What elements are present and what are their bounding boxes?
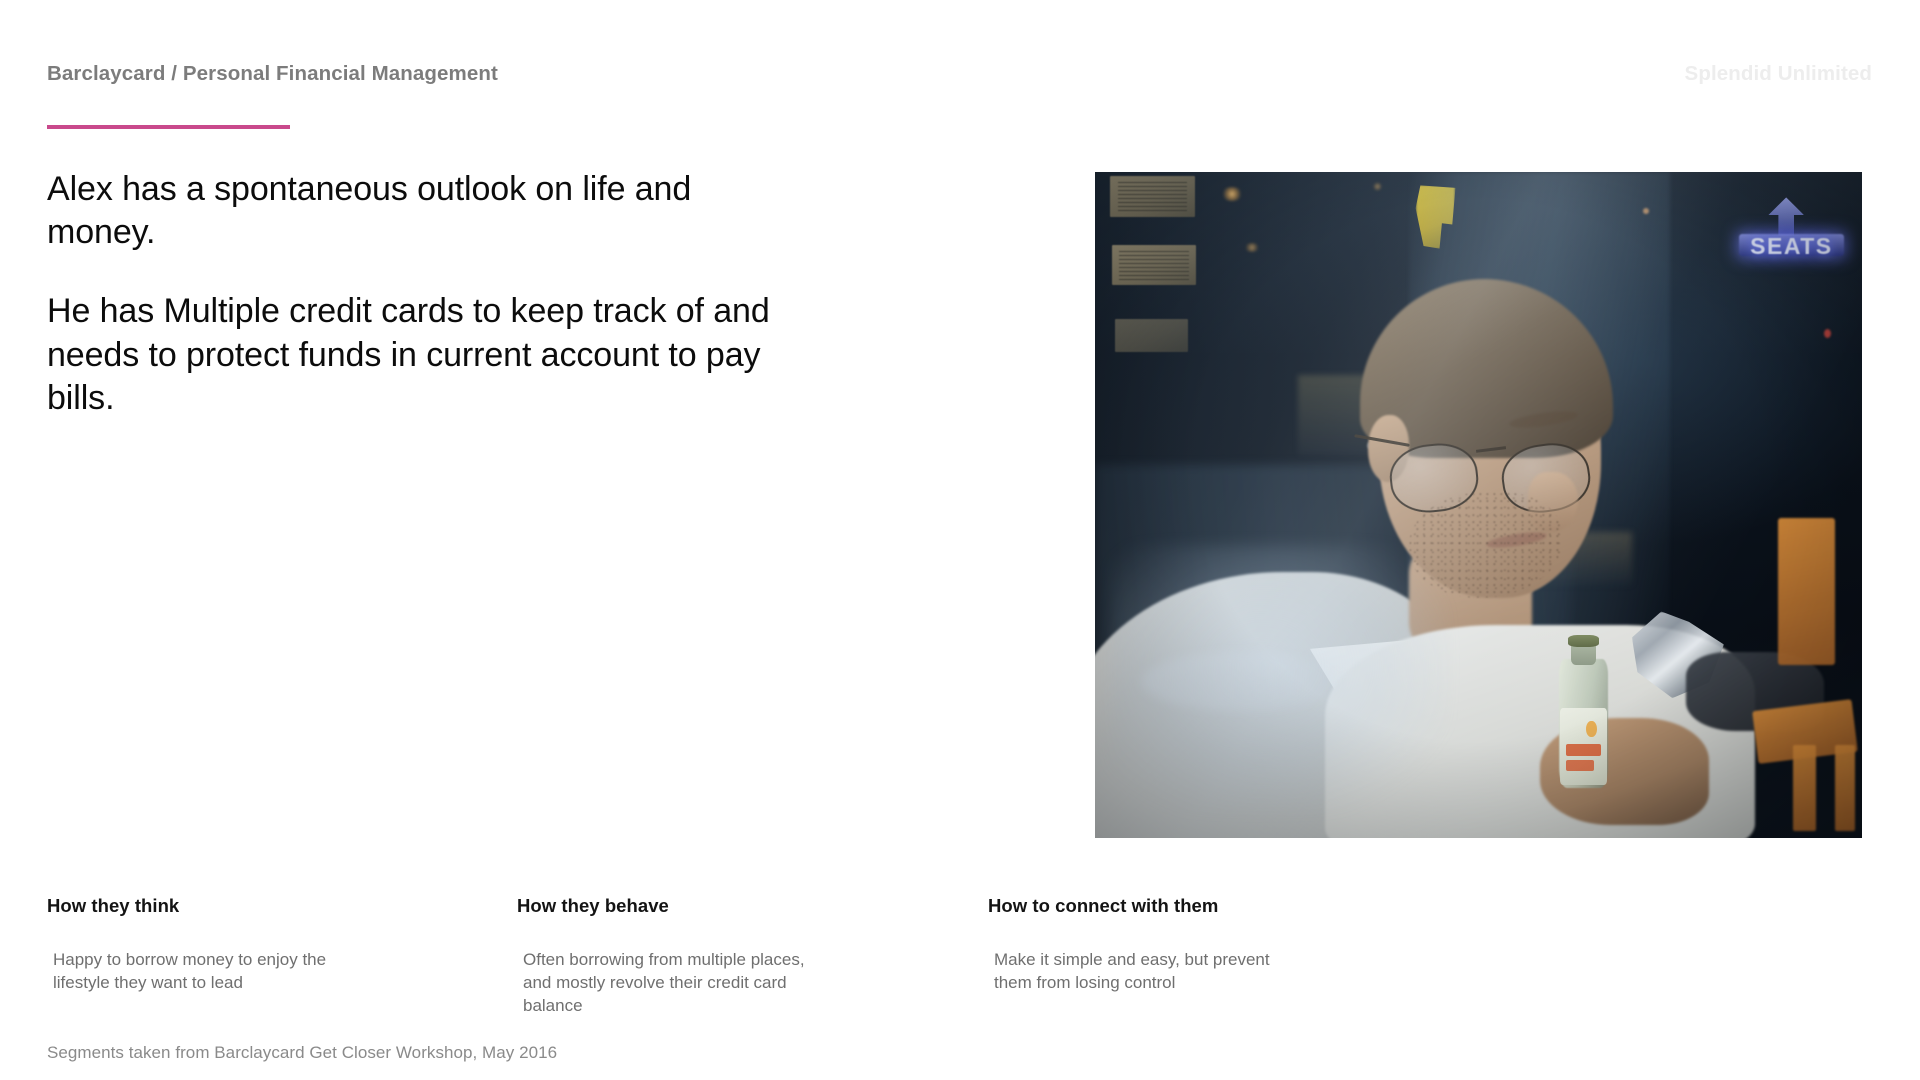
page-title: Barclaycard / Personal Financial Managem… (47, 62, 498, 86)
insight-column-think: How they think Happy to borrow money to … (47, 895, 467, 995)
outdoor-chair-leg-1 (1793, 745, 1816, 832)
bottle-label-dot (1586, 721, 1596, 738)
insight-columns: How they think Happy to borrow money to … (0, 895, 1920, 1035)
column-body-behave: Often borrowing from multiple places, an… (523, 949, 823, 1017)
photo-canvas: SEATS (1095, 172, 1862, 838)
glasses-bridge (1476, 447, 1506, 453)
source-footnote: Segments taken from Barclaycard Get Clos… (47, 1043, 557, 1063)
lead-text-block: Alex has a spontaneous outlook on life a… (47, 168, 787, 420)
bottle-label-mark-1 (1566, 744, 1602, 756)
slide-canvas: Barclaycard / Personal Financial Managem… (0, 0, 1920, 1080)
column-body-think: Happy to borrow money to enjoy the lifes… (53, 949, 353, 995)
bottle-cap (1568, 635, 1598, 647)
outdoor-chair-1 (1778, 518, 1836, 665)
column-heading-behave: How they behave (517, 895, 937, 917)
lead-paragraph-2: He has Multiple credit cards to keep tra… (47, 290, 787, 420)
outdoor-chair-leg-2 (1835, 745, 1855, 832)
bottle-label-mark-2 (1566, 760, 1594, 771)
column-heading-think: How they think (47, 895, 467, 917)
accent-rule (47, 125, 290, 129)
juice-bottle (1559, 635, 1608, 788)
column-body-connect: Make it simple and easy, but prevent the… (994, 949, 1294, 995)
column-heading-connect: How to connect with them (988, 895, 1408, 917)
insight-column-connect: How to connect with them Make it simple … (988, 895, 1408, 995)
slide-header: Barclaycard / Personal Financial Managem… (0, 0, 1920, 130)
insight-column-behave: How they behave Often borrowing from mul… (517, 895, 937, 1017)
bottle-label (1560, 708, 1607, 785)
persona-photo: SEATS (1095, 172, 1862, 838)
brand-watermark: Splendid Unlimited (1685, 62, 1872, 86)
lead-paragraph-1: Alex has a spontaneous outlook on life a… (47, 168, 787, 254)
photo-subject (1095, 172, 1862, 838)
